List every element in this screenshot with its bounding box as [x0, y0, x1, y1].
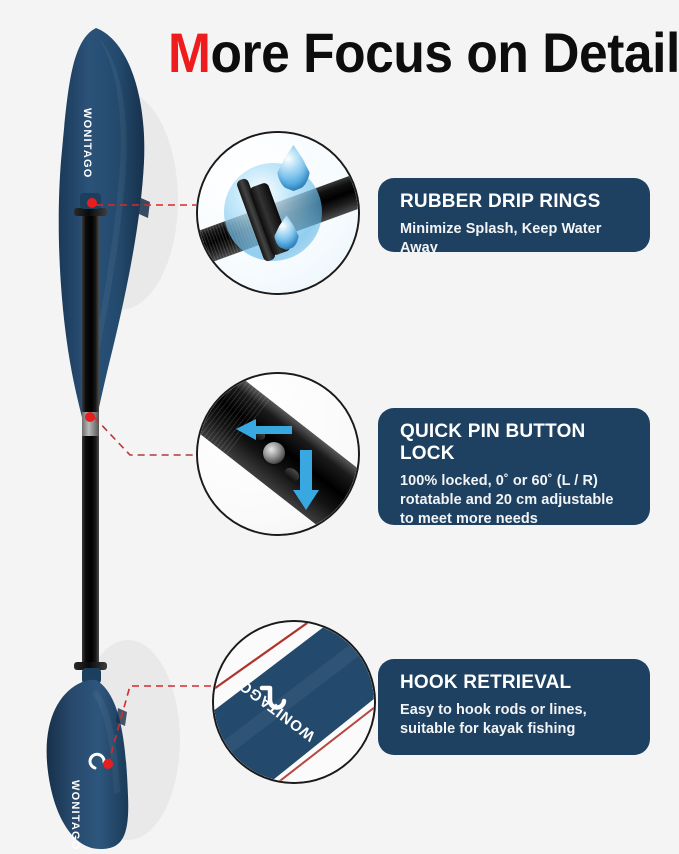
blade-shaft-joint-lower — [82, 668, 101, 684]
feature-body-line-1: 100% locked, 0˚ or 60˚ (L / R) — [400, 472, 630, 491]
detail-photo-pin-lock — [196, 372, 360, 536]
paddle-shaft-upper — [82, 215, 99, 415]
drip-ring-upper — [74, 208, 107, 216]
pin-button-icon — [263, 442, 285, 464]
paddle-ferrule — [82, 412, 99, 438]
leader-line-pin-lock — [94, 417, 196, 455]
feature-callout-hook-retrieval: HOOK RETRIEVAL Easy to hook rods or line… — [378, 659, 650, 755]
title-accent-letter: M — [168, 21, 210, 84]
paddle-brand-top: WONITAGO — [81, 108, 93, 179]
feature-body-line-3: to meet more needs — [400, 510, 630, 529]
blade-shaft-joint-upper — [80, 193, 101, 209]
feature-body-line-1: Easy to hook rods or lines, — [400, 701, 630, 720]
feature-title: QUICK PIN BUTTON LOCK — [400, 421, 630, 465]
feature-body-line-2: rotatable and 20 cm adjustable — [400, 491, 630, 510]
rotation-arrow-left-icon — [234, 418, 294, 442]
feature-callout-rubber-drip-rings: RUBBER DRIP RINGS Minimize Splash, Keep … — [378, 178, 650, 252]
feature-body-line-2: suitable for kayak fishing — [400, 720, 630, 739]
feature-callout-quick-pin-button-lock: QUICK PIN BUTTON LOCK 100% locked, 0˚ or… — [378, 408, 650, 525]
leader-line-hook — [108, 686, 218, 765]
feature-title: RUBBER DRIP RINGS — [400, 191, 630, 213]
paddle-shaft-lower — [82, 436, 99, 666]
paddle-blade-top — [59, 28, 145, 452]
leader-dot-drip-rings — [87, 198, 97, 208]
detail-photo-drip-ring — [196, 131, 360, 295]
pin-button-marker — [87, 415, 92, 420]
rotation-arrow-down-icon — [292, 450, 320, 512]
hook-notch-marker — [90, 754, 104, 768]
paddle-brand-bottom: WONITAGO — [69, 780, 81, 849]
detail-photo-hook: WONITAGO — [212, 620, 376, 784]
drip-ring-lower — [74, 662, 107, 670]
infographic-page: More Focus on Details — [0, 0, 679, 849]
feature-body: Minimize Splash, Keep Water Away — [400, 220, 630, 258]
feature-title: HOOK RETRIEVAL — [400, 672, 630, 694]
paddle-blade-bottom — [47, 680, 129, 849]
leader-dot-hook — [103, 759, 113, 769]
title-text: ore Focus on Details — [210, 21, 679, 84]
page-title: More Focus on Details — [168, 20, 628, 86]
leader-dot-pin-lock — [85, 412, 95, 422]
